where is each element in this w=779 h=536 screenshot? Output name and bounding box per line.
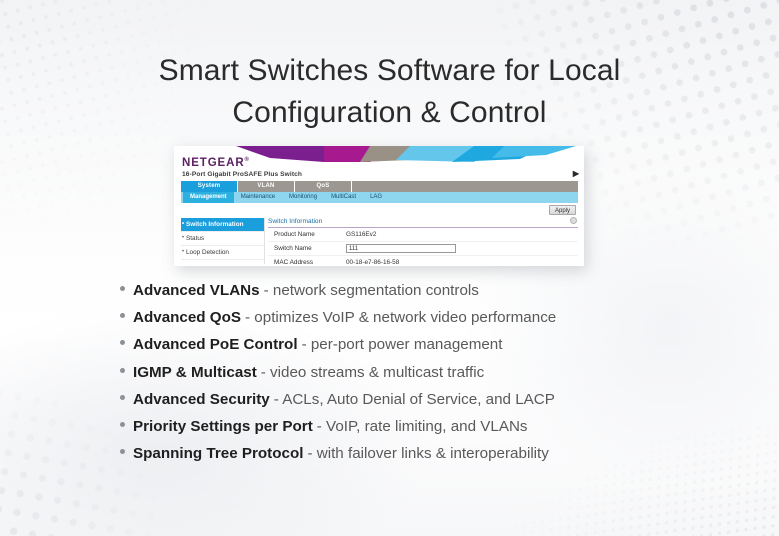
slide-canvas: Smart Switches Software for Local Config… bbox=[0, 0, 779, 536]
bullet-dot-icon bbox=[120, 395, 125, 400]
bullet-description: - network segmentation controls bbox=[264, 281, 479, 300]
embedded-switch-ui-screenshot: NETGEAR® 16-Port Gigabit ProSAFE Plus Sw… bbox=[174, 146, 584, 266]
field-label-mac-address: MAC Address bbox=[268, 259, 346, 266]
submenu-item-lag[interactable]: LAG bbox=[363, 192, 389, 203]
bullet-description: - per-port power management bbox=[302, 335, 503, 354]
bullet-dot-icon bbox=[120, 368, 125, 373]
bullet-term: Advanced QoS bbox=[133, 308, 241, 327]
bullet-dot-icon bbox=[120, 340, 125, 345]
secondary-menu-bar: Management Maintenance Monitoring MultiC… bbox=[181, 192, 578, 203]
header-collapse-icon[interactable]: ▶ bbox=[573, 170, 579, 178]
help-icon[interactable] bbox=[570, 217, 577, 224]
bullet-term: Advanced Security bbox=[133, 390, 270, 409]
bullet-term: Priority Settings per Port bbox=[133, 417, 313, 436]
bullet-term: Advanced VLANs bbox=[133, 281, 260, 300]
field-label-switch-name: Switch Name bbox=[268, 245, 346, 252]
submenu-item-maintenance[interactable]: Maintenance bbox=[234, 192, 282, 203]
switch-content-panel: Switch Information Product Name GS116Ev2… bbox=[268, 218, 578, 264]
feature-bullet-list: Advanced VLANs - network segmentation co… bbox=[120, 281, 720, 471]
switch-model-label: 16-Port Gigabit ProSAFE Plus Switch bbox=[182, 171, 302, 178]
bullet-description: - with failover links & interoperability bbox=[307, 444, 548, 463]
list-item: Spanning Tree Protocol - with failover l… bbox=[120, 444, 720, 463]
list-item: Advanced PoE Control - per-port power ma… bbox=[120, 335, 720, 354]
field-value-product-name: GS116Ev2 bbox=[346, 231, 376, 238]
netgear-registered-mark: ® bbox=[245, 157, 250, 163]
tab-vlan[interactable]: VLAN bbox=[238, 181, 295, 192]
bullet-term: IGMP & Multicast bbox=[133, 363, 257, 382]
bullet-dot-icon bbox=[120, 313, 125, 318]
field-row-switch-name: Switch Name 111 bbox=[268, 242, 578, 256]
bullet-term: Advanced PoE Control bbox=[133, 335, 298, 354]
tab-qos[interactable]: QoS bbox=[295, 181, 352, 192]
tab-system[interactable]: System bbox=[181, 181, 238, 192]
list-item: Priority Settings per Port - VoIP, rate … bbox=[120, 417, 720, 436]
apply-toolbar: Apply bbox=[181, 204, 578, 216]
bullet-description: - video streams & multicast traffic bbox=[261, 363, 484, 382]
bullet-dot-icon bbox=[120, 422, 125, 427]
bullet-dot-icon bbox=[120, 286, 125, 291]
netgear-logo: NETGEAR® bbox=[182, 157, 250, 169]
primary-tab-bar: System VLAN QoS bbox=[181, 181, 578, 192]
bullet-description: - ACLs, Auto Denial of Service, and LACP bbox=[274, 390, 555, 409]
list-item: Advanced QoS - optimizes VoIP & network … bbox=[120, 308, 720, 327]
bullet-description: - VoIP, rate limiting, and VLANs bbox=[317, 417, 528, 436]
list-item: IGMP & Multicast - video streams & multi… bbox=[120, 363, 720, 382]
switch-name-input[interactable]: 111 bbox=[346, 244, 456, 253]
nav-item-switch-information[interactable]: Switch Information bbox=[181, 218, 264, 232]
slide-title: Smart Switches Software for Local Config… bbox=[0, 50, 779, 134]
panel-heading-text: Switch Information bbox=[268, 218, 322, 225]
switch-left-nav: Switch Information Status Loop Detection bbox=[181, 218, 265, 264]
bullet-dot-icon bbox=[120, 449, 125, 454]
list-item: Advanced VLANs - network segmentation co… bbox=[120, 281, 720, 300]
panel-heading: Switch Information bbox=[268, 218, 578, 228]
bullet-term: Spanning Tree Protocol bbox=[133, 444, 303, 463]
nav-item-status[interactable]: Status bbox=[181, 232, 264, 246]
submenu-item-management[interactable]: Management bbox=[183, 192, 234, 203]
apply-button[interactable]: Apply bbox=[549, 205, 576, 215]
slide-title-line-1: Smart Switches Software for Local bbox=[159, 54, 621, 87]
bullet-description: - optimizes VoIP & network video perform… bbox=[245, 308, 556, 327]
submenu-item-multicast[interactable]: MultiCast bbox=[324, 192, 363, 203]
tab-bar-filler bbox=[352, 181, 578, 192]
nav-item-loop-detection[interactable]: Loop Detection bbox=[181, 246, 264, 260]
field-row-product-name: Product Name GS116Ev2 bbox=[268, 228, 578, 242]
field-value-mac-address: 00-18-e7-86-16-58 bbox=[346, 259, 399, 266]
submenu-item-monitoring[interactable]: Monitoring bbox=[282, 192, 324, 203]
list-item: Advanced Security - ACLs, Auto Denial of… bbox=[120, 390, 720, 409]
slide-title-line-2: Configuration & Control bbox=[0, 92, 779, 134]
field-row-mac-address: MAC Address 00-18-e7-86-16-58 bbox=[268, 256, 578, 266]
netgear-logo-text: NETGEAR bbox=[182, 157, 245, 169]
field-label-product-name: Product Name bbox=[268, 231, 346, 238]
